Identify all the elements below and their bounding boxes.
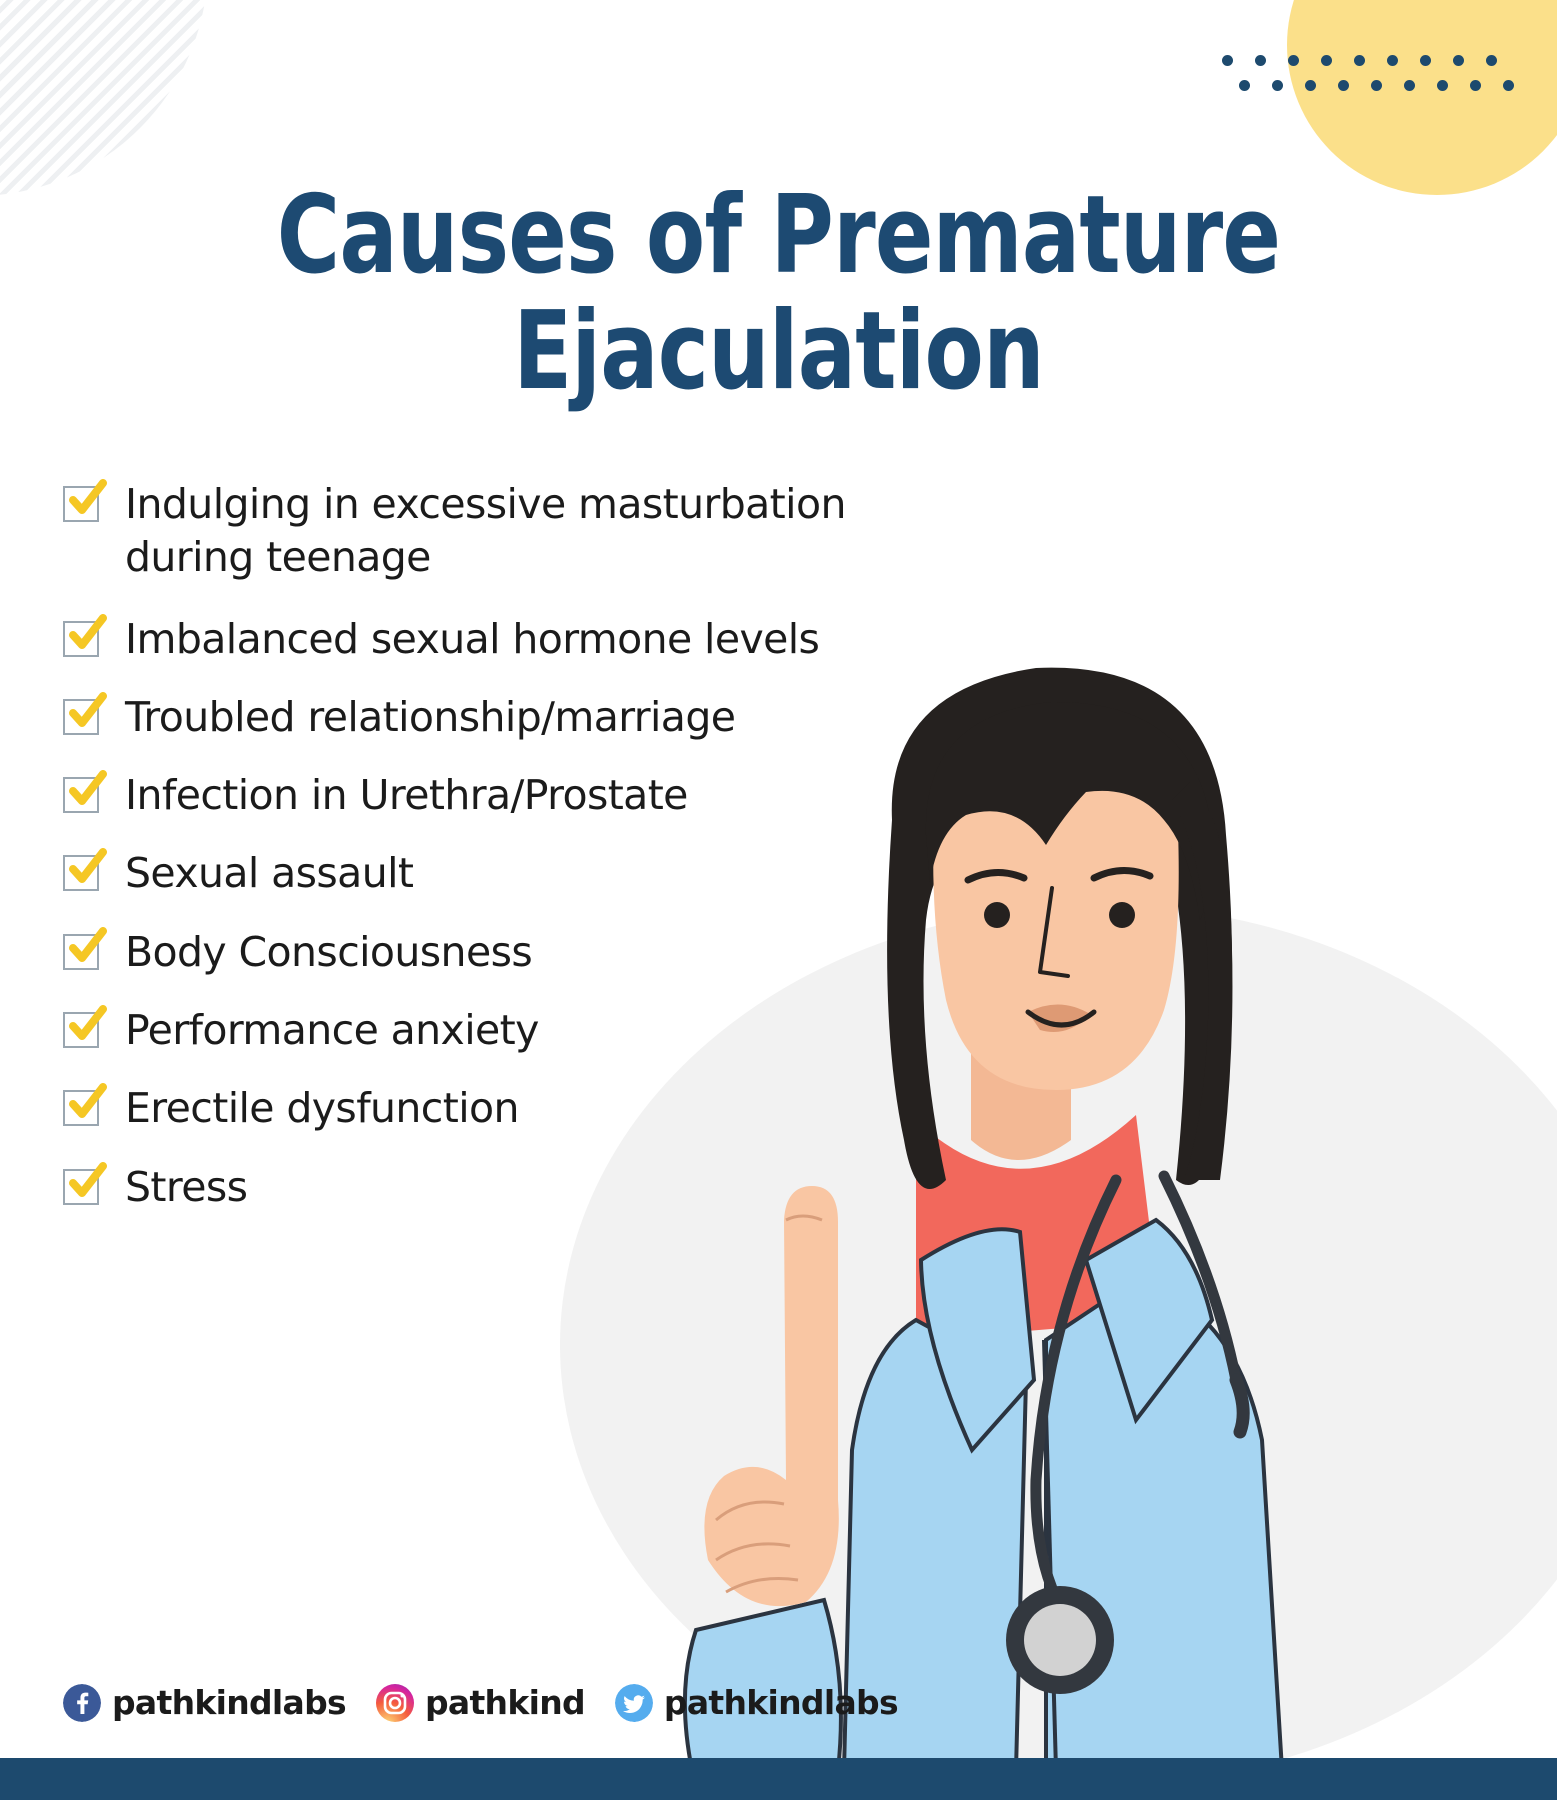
- checkbox-checked[interactable]: [63, 1090, 99, 1126]
- decoration-dot: [1354, 55, 1365, 66]
- page-title: Causes of Premature Ejaculation: [156, 178, 1402, 409]
- decoration-dot: [1420, 55, 1431, 66]
- checkbox-checked[interactable]: [63, 1169, 99, 1205]
- social-handle: pathkind: [425, 1683, 585, 1722]
- decoration-dot: [1305, 80, 1316, 91]
- checklist-item-label: Imbalanced sexual hormone levels: [125, 613, 819, 666]
- decoration-dot: [1272, 80, 1283, 91]
- checkbox-checked[interactable]: [63, 1012, 99, 1048]
- social-handle: pathkindlabs: [664, 1683, 898, 1722]
- decoration-dot: [1387, 55, 1398, 66]
- decoration-dot: [1371, 80, 1382, 91]
- checklist-item-label: Erectile dysfunction: [125, 1082, 519, 1135]
- social-media-footer: pathkindlabspathkindpathkindlabs: [63, 1683, 928, 1722]
- social-link-twitter[interactable]: pathkindlabs: [615, 1683, 898, 1722]
- dot-grid-decoration: [1222, 55, 1542, 105]
- decoration-dot: [1404, 80, 1415, 91]
- causes-checklist: Indulging in excessive masturbation duri…: [63, 478, 943, 1239]
- checklist-item-label: Performance anxiety: [125, 1004, 539, 1057]
- decoration-dot: [1222, 55, 1233, 66]
- checkbox-checked[interactable]: [63, 934, 99, 970]
- checklist-item: Imbalanced sexual hormone levels: [63, 613, 943, 666]
- twitter-icon[interactable]: [615, 1684, 653, 1722]
- checklist-item: Body Consciousness: [63, 926, 943, 979]
- checklist-item-label: Sexual assault: [125, 847, 413, 900]
- checkmark-icon: [67, 1083, 107, 1123]
- title-line-1: Causes of Premature: [156, 178, 1402, 294]
- checklist-item: Sexual assault: [63, 847, 943, 900]
- decoration-dot: [1486, 55, 1497, 66]
- checklist-item: Stress: [63, 1161, 943, 1214]
- social-link-facebook[interactable]: pathkindlabs: [63, 1683, 346, 1722]
- yellow-circle-decoration: [1287, 0, 1557, 195]
- checkmark-icon: [67, 1162, 107, 1202]
- diagonal-stripes-decoration: [0, 0, 208, 196]
- decoration-dot: [1239, 80, 1250, 91]
- social-link-instagram[interactable]: pathkind: [376, 1683, 585, 1722]
- checklist-item: Performance anxiety: [63, 1004, 943, 1057]
- decoration-dot: [1338, 80, 1349, 91]
- checkmark-icon: [67, 614, 107, 654]
- checkbox-checked[interactable]: [63, 855, 99, 891]
- checkmark-icon: [67, 927, 107, 967]
- social-handle: pathkindlabs: [112, 1683, 346, 1722]
- checkbox-checked[interactable]: [63, 777, 99, 813]
- title-line-2: Ejaculation: [156, 294, 1402, 410]
- checklist-item: Troubled relationship/marriage: [63, 691, 943, 744]
- instagram-icon[interactable]: [376, 1684, 414, 1722]
- checklist-item: Erectile dysfunction: [63, 1082, 943, 1135]
- decoration-dot: [1288, 55, 1299, 66]
- checklist-item-label: Indulging in excessive masturbation duri…: [125, 478, 943, 585]
- checklist-item-label: Troubled relationship/marriage: [125, 691, 735, 744]
- checklist-item: Infection in Urethra/Prostate: [63, 769, 943, 822]
- checkmark-icon: [67, 770, 107, 810]
- decoration-dot: [1470, 80, 1481, 91]
- checkmark-icon: [67, 692, 107, 732]
- checkmark-icon: [67, 479, 107, 519]
- checkmark-icon: [67, 1005, 107, 1045]
- checkbox-checked[interactable]: [63, 699, 99, 735]
- decoration-dot: [1255, 55, 1266, 66]
- checklist-item-label: Body Consciousness: [125, 926, 532, 979]
- facebook-icon[interactable]: [63, 1684, 101, 1722]
- checkbox-checked[interactable]: [63, 486, 99, 522]
- decoration-dot: [1321, 55, 1332, 66]
- checklist-item: Indulging in excessive masturbation duri…: [63, 478, 943, 585]
- checkbox-checked[interactable]: [63, 621, 99, 657]
- checklist-item-label: Infection in Urethra/Prostate: [125, 769, 688, 822]
- decoration-dot: [1503, 80, 1514, 91]
- decoration-dot: [1437, 80, 1448, 91]
- bottom-accent-bar: [0, 1758, 1557, 1800]
- checkmark-icon: [67, 848, 107, 888]
- infographic-poster: Causes of Premature Ejaculation Indulgin…: [0, 0, 1557, 1800]
- decoration-dot: [1453, 55, 1464, 66]
- checklist-item-label: Stress: [125, 1161, 247, 1214]
